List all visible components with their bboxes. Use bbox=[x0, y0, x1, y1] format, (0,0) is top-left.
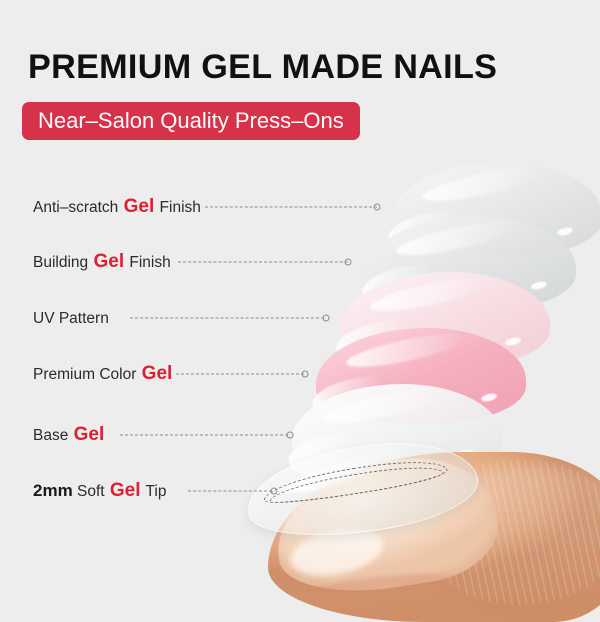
label-prefix: Soft bbox=[73, 483, 109, 500]
leader-line bbox=[188, 491, 272, 492]
leader-endpoint-dot bbox=[323, 315, 330, 322]
label-prefix: Base bbox=[33, 427, 73, 444]
tagline-badge: Near–Salon Quality Press–Ons bbox=[22, 102, 360, 140]
label-prefix: UV Pattern bbox=[33, 310, 109, 327]
label-accent: Gel bbox=[123, 196, 156, 217]
leader-endpoint-dot bbox=[374, 204, 381, 211]
label-suffix: Tip bbox=[142, 483, 167, 500]
callout-row-soft-gel-tip: 2mm Soft Gel Tip bbox=[0, 480, 600, 502]
leader-line bbox=[130, 318, 324, 319]
infographic-canvas: PREMIUM GEL MADE NAILS Near–Salon Qualit… bbox=[0, 0, 600, 600]
label-accent bbox=[109, 307, 111, 328]
callout-row-anti-scratch-gel-finish: Anti–scratch Gel Finish bbox=[0, 196, 600, 218]
callout-row-premium-color-gel: Premium Color Gel bbox=[0, 363, 600, 385]
label-suffix: Finish bbox=[125, 254, 171, 271]
callout-label-base-gel: Base Gel bbox=[33, 424, 105, 446]
layer-specular bbox=[504, 336, 521, 347]
label-bold: 2mm bbox=[33, 481, 73, 500]
layer-specular bbox=[530, 280, 547, 291]
callout-label-premium-color-gel: Premium Color Gel bbox=[33, 363, 173, 385]
page-title: PREMIUM GEL MADE NAILS bbox=[28, 48, 497, 87]
callout-row-building-gel-finish: Building Gel Finish bbox=[0, 251, 600, 273]
leader-endpoint-dot bbox=[345, 259, 352, 266]
leader-line bbox=[176, 374, 304, 375]
label-prefix: Anti–scratch bbox=[33, 199, 123, 216]
callout-label-soft-gel-tip: 2mm Soft Gel Tip bbox=[33, 480, 166, 502]
callout-label-uv-pattern: UV Pattern bbox=[33, 307, 111, 329]
callout-label-building-gel-finish: Building Gel Finish bbox=[33, 251, 171, 273]
layer-specular bbox=[480, 392, 497, 403]
label-suffix: Finish bbox=[155, 199, 201, 216]
label-prefix: Building bbox=[33, 254, 92, 271]
label-accent: Gel bbox=[73, 424, 106, 445]
leader-line bbox=[205, 207, 377, 208]
callout-label-anti-scratch-gel-finish: Anti–scratch Gel Finish bbox=[33, 196, 201, 218]
leader-line bbox=[178, 262, 348, 263]
label-accent: Gel bbox=[109, 480, 142, 501]
label-prefix: Premium Color bbox=[33, 366, 141, 383]
label-accent: Gel bbox=[92, 251, 125, 272]
leader-endpoint-dot bbox=[271, 488, 278, 495]
leader-line bbox=[120, 435, 288, 436]
layer-specular bbox=[556, 226, 573, 237]
callout-row-base-gel: Base Gel bbox=[0, 424, 600, 446]
leader-endpoint-dot bbox=[302, 371, 309, 378]
label-accent: Gel bbox=[141, 363, 174, 384]
callout-row-uv-pattern: UV Pattern bbox=[0, 307, 600, 329]
leader-endpoint-dot bbox=[287, 432, 294, 439]
